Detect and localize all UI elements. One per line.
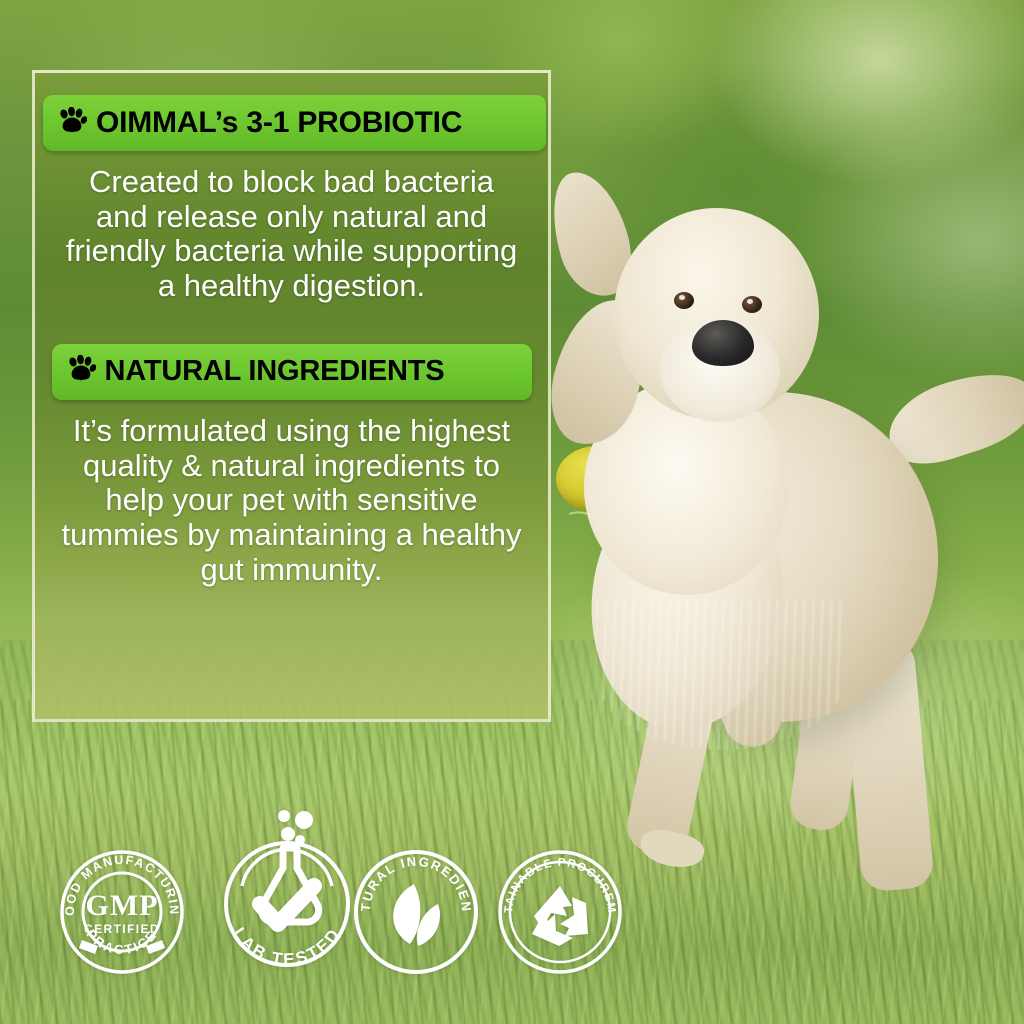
- paw-print-icon: [57, 107, 87, 140]
- section-body-probiotic: Created to block bad bacteria and releas…: [43, 151, 540, 304]
- badge-natural-ingredients: NATURAL INGREDIENTS: [352, 848, 480, 976]
- section-heading-label: NATURAL INGREDIENTS: [105, 357, 445, 386]
- dog-right-eye-highlight: [747, 299, 753, 304]
- trust-badge-row: GOOD MANUFACTURING PRACTICE GMP CERTIFIE…: [0, 780, 660, 980]
- badge-lab-tested: LAB TESTED: [212, 800, 362, 976]
- section-heading-label: OIMMAL’s 3-1 PROBIOTIC: [96, 108, 462, 138]
- dog-left-eye-highlight: [679, 295, 685, 300]
- badge-gmp-certified: GOOD MANUFACTURING PRACTICE GMP CERTIFIE…: [58, 848, 186, 976]
- badge-center-secondary: CERTIFIED: [84, 922, 160, 936]
- leaf-icon: NATURAL INGREDIENTS: [352, 848, 480, 976]
- paw-print-icon: [66, 355, 96, 388]
- feature-panel: OIMMAL’s 3-1 PROBIOTIC Created to block …: [32, 70, 551, 722]
- section-heading-natural-ingredients: NATURAL INGREDIENTS: [52, 344, 532, 400]
- dog-fur-fringe: [596, 600, 846, 750]
- dog-nose: [692, 320, 754, 366]
- recycle-icon: SUSTAINABLE PROCUREMENT: [496, 848, 624, 976]
- svg-text:LAB TESTED: LAB TESTED: [229, 924, 344, 969]
- dog-right-eye: [742, 296, 762, 313]
- badge-arc-bottom: LAB TESTED: [229, 924, 344, 969]
- dog-left-eye: [674, 292, 694, 309]
- badge-center-primary: GMP: [86, 889, 159, 922]
- section-body-natural-ingredients: It’s formulated using the highest qualit…: [43, 400, 540, 588]
- badge-sustainable-procurement: SUSTAINABLE PROCUREMENT: [496, 848, 624, 976]
- section-heading-probiotic: OIMMAL’s 3-1 PROBIOTIC: [43, 95, 546, 151]
- section-spacer: [43, 304, 540, 344]
- flask-checkmark-icon: LAB TESTED: [212, 800, 362, 976]
- gmp-seal-icon: GOOD MANUFACTURING PRACTICE GMP CERTIFIE…: [58, 848, 186, 976]
